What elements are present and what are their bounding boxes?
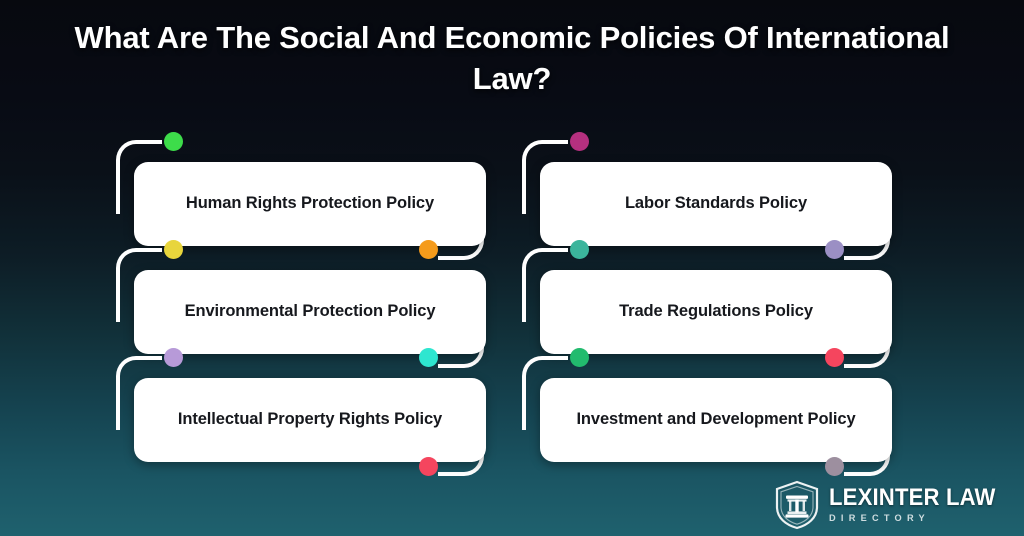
purple-dot — [164, 348, 183, 367]
policy-card-label: Environmental Protection Policy — [171, 301, 450, 323]
shield-scales-icon — [774, 480, 820, 530]
teal-dot — [570, 240, 589, 259]
policy-card-label: Intellectual Property Rights Policy — [164, 409, 456, 431]
policy-card-label: Human Rights Protection Policy — [172, 193, 448, 215]
grey-purple-dot — [825, 457, 844, 476]
policy-cell: Investment and Development Policy — [522, 356, 890, 462]
policy-card-grid: Human Rights Protection Policy Labor Sta… — [0, 118, 1024, 478]
infographic-canvas: What Are The Social And Economic Policie… — [0, 0, 1024, 536]
policy-cell: Human Rights Protection Policy — [116, 140, 484, 246]
orange-dot — [419, 240, 438, 259]
magenta-dot — [570, 132, 589, 151]
cyan-dot — [419, 348, 438, 367]
logo-text-block: LEXINTER LAW DIRECTORY — [829, 486, 1010, 524]
policy-card[interactable]: Human Rights Protection Policy — [134, 162, 486, 246]
page-title: What Are The Social And Economic Policie… — [0, 18, 1024, 100]
yellow-dot — [164, 240, 183, 259]
brand-logo[interactable]: LEXINTER LAW DIRECTORY — [774, 480, 1010, 530]
lavender-dot — [825, 240, 844, 259]
logo-name: LEXINTER LAW — [829, 486, 996, 510]
policy-cell: Trade Regulations Policy — [522, 248, 890, 354]
logo-subtitle: DIRECTORY — [829, 514, 1005, 524]
policy-card[interactable]: Environmental Protection Policy — [134, 270, 486, 354]
green-dot — [570, 348, 589, 367]
policy-card-label: Trade Regulations Policy — [605, 301, 827, 323]
policy-card[interactable]: Intellectual Property Rights Policy — [134, 378, 486, 462]
policy-card-label: Investment and Development Policy — [562, 409, 869, 431]
policy-card[interactable]: Trade Regulations Policy — [540, 270, 892, 354]
policy-card[interactable]: Labor Standards Policy — [540, 162, 892, 246]
red-dot — [825, 348, 844, 367]
policy-card[interactable]: Investment and Development Policy — [540, 378, 892, 462]
policy-cell: Environmental Protection Policy — [116, 248, 484, 354]
policy-cell: Intellectual Property Rights Policy — [116, 356, 484, 462]
policy-cell: Labor Standards Policy — [522, 140, 890, 246]
policy-card-label: Labor Standards Policy — [611, 193, 821, 215]
red-dot — [419, 457, 438, 476]
green-dot — [164, 132, 183, 151]
